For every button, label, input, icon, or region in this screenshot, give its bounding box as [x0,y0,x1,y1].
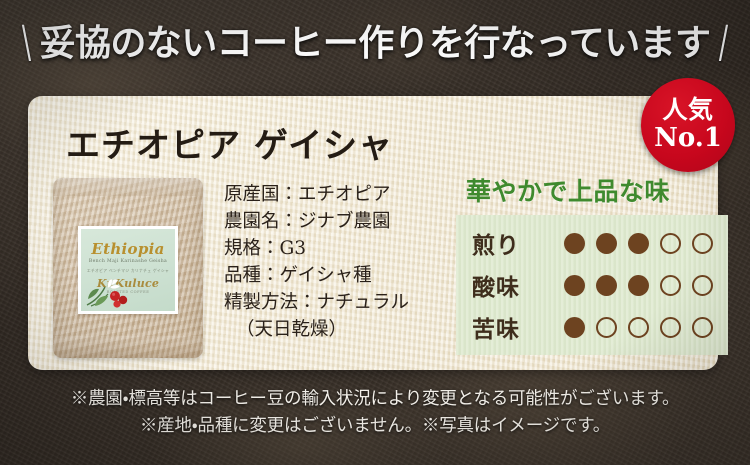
rating-dot-filled [564,233,585,254]
headline: \ 妥協のないコーヒー作りを行なっています / [0,14,750,72]
product-image: Ethiopia Bench Maji Karinashe Geisha エチオ… [53,178,203,358]
taste-dots-bitterness [564,317,713,338]
taste-panel: 煎り 酸味 苦味 [456,215,728,355]
spec-grade: 規格：G3 [224,235,409,262]
product-card: エチオピア ゲイシャ Ethiopia Bench Maji Karinashe… [28,96,718,370]
rating-dot-empty [596,317,617,338]
taste-row-bitterness: 苦味 [472,307,718,347]
headline-slash-left: \ [22,21,31,65]
spec-origin: 原産国：エチオピア [224,181,409,208]
popularity-badge: 人気 No.1 [641,78,735,172]
rating-dot-empty [660,233,681,254]
rating-dot-filled [628,233,649,254]
disclaimer-notes: ※農園・標高等はコーヒー豆の輸入状況により変更となる可能性がございます。 ※産地… [0,386,750,440]
taste-dots-acidity [564,275,713,296]
rating-dot-empty [692,233,713,254]
disclaimer-line-1: ※農園・標高等はコーヒー豆の輸入状況により変更となる可能性がございます。 [0,386,750,413]
badge-label: 人気 [662,97,713,123]
badge-rank: No.1 [654,124,722,153]
spec-farm: 農園名：ジナブ農園 [224,208,409,235]
disclaimer-line-2: ※産地・品種に変更はございません。※写真はイメージです。 [0,413,750,440]
rating-dot-empty [660,317,681,338]
promo-banner: \ 妥協のないコーヒー作りを行なっています / エチオピア ゲイシャ Ethio… [0,0,750,465]
rating-dot-empty [628,317,649,338]
rating-dot-filled [564,317,585,338]
taste-label-bitterness: 苦味 [472,310,558,344]
taste-heading: 華やかで上品な味 [466,172,670,208]
taste-row-roast: 煎り [472,223,718,263]
spec-list: 原産国：エチオピア 農園名：ジナブ農園 規格：G3 品種：ゲイシャ種 精製方法：… [224,181,409,343]
coffee-flower-icon [85,275,133,309]
product-title: エチオピア ゲイシャ [66,118,393,167]
spec-variety: 品種：ゲイシャ種 [224,262,409,289]
rating-dot-filled [596,233,617,254]
taste-label-acidity: 酸味 [472,268,558,302]
label-subtitle-jp: エチオピア ベンチマジ カリナチェ ゲイシャ [81,268,175,274]
label-subtitle: Bench Maji Karinashe Geisha [81,259,175,264]
rating-dot-filled [596,275,617,296]
headline-slash-right: / [719,21,728,65]
taste-dots-roast [564,233,713,254]
taste-label-roast: 煎り [472,226,558,260]
headline-text: 妥協のないコーヒー作りを行なっています [40,25,711,61]
rating-dot-empty [692,317,713,338]
rating-dot-filled [628,275,649,296]
rating-dot-empty [660,275,681,296]
spec-process: 精製方法：ナチュラル [224,289,409,316]
pouch-label: Ethiopia Bench Maji Karinashe Geisha エチオ… [78,226,178,314]
rating-dot-empty [692,275,713,296]
rating-dot-filled [564,275,585,296]
taste-row-acidity: 酸味 [472,265,718,305]
label-origin-name: Ethiopia [81,240,175,258]
spec-process-detail: （天日乾燥） [224,316,409,343]
